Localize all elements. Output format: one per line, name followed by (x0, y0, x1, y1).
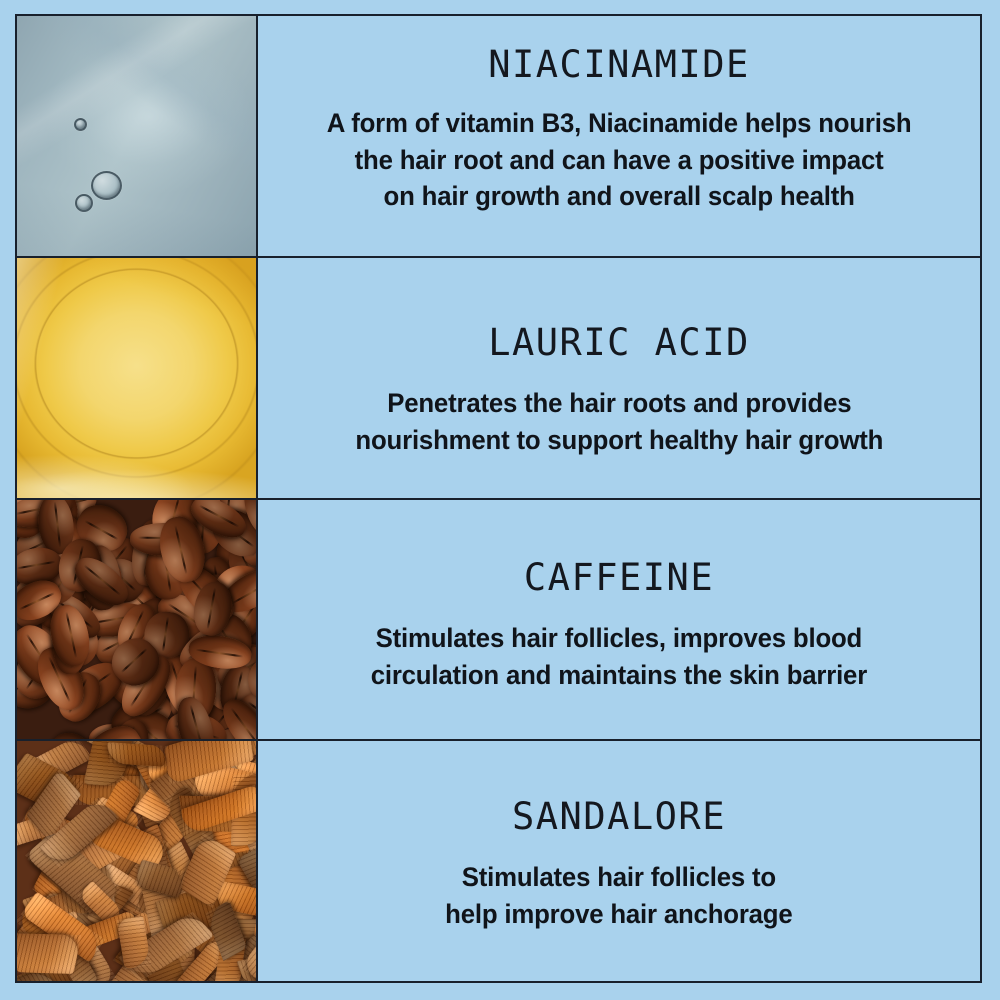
ingredient-description: A form of vitamin B3, Niacinamide helps … (327, 105, 912, 215)
description-line: the hair root and can have a positive im… (327, 142, 912, 179)
ingredient-title: LAURIC ACID (488, 322, 750, 365)
table-row: CAFFEINE Stimulates hair follicles, impr… (17, 500, 980, 742)
bubble-icon (91, 171, 122, 200)
ingredient-copy-lauric-acid: LAURIC ACID Penetrates the hair roots an… (258, 258, 980, 498)
sandalwood-chip (17, 933, 81, 974)
description-line: Penetrates the hair roots and provides (355, 385, 883, 422)
ingredient-image-niacinamide (17, 16, 258, 256)
description-line: Stimulates hair follicles to (445, 859, 792, 896)
ingredient-description: Stimulates hair follicles, improves bloo… (371, 620, 867, 693)
ingredient-image-lauric-acid (17, 258, 258, 498)
description-line: on hair growth and overall scalp health (327, 178, 912, 215)
ingredient-image-sandalore (17, 741, 258, 981)
bubble-icon (74, 118, 87, 131)
table-row: LAURIC ACID Penetrates the hair roots an… (17, 258, 980, 500)
description-line: help improve hair anchorage (445, 896, 792, 933)
ingredient-image-caffeine (17, 500, 258, 740)
bubble-icon (75, 194, 93, 212)
coffee-beans-image (17, 500, 256, 740)
sandalwood-chips-image (17, 741, 256, 981)
description-line: Stimulates hair follicles, improves bloo… (371, 620, 867, 657)
ingredient-description: Stimulates hair follicles to help improv… (445, 859, 792, 932)
ingredient-copy-sandalore: SANDALORE Stimulates hair follicles to h… (258, 741, 980, 981)
ingredient-description: Penetrates the hair roots and provides n… (355, 385, 883, 458)
ingredient-title: CAFFEINE (524, 557, 714, 600)
description-line: nourishment to support healthy hair grow… (355, 422, 883, 459)
ingredient-copy-caffeine: CAFFEINE Stimulates hair follicles, impr… (258, 500, 980, 740)
ingredient-copy-niacinamide: NIACINAMIDE A form of vitamin B3, Niacin… (258, 16, 980, 256)
coconut-oil-image (17, 258, 256, 498)
sandalwood-chip (107, 742, 167, 767)
ingredient-title: SANDALORE (512, 796, 726, 839)
table-row: NIACINAMIDE A form of vitamin B3, Niacin… (17, 16, 980, 258)
description-line: A form of vitamin B3, Niacinamide helps … (327, 105, 912, 142)
ingredient-benefits-table: NIACINAMIDE A form of vitamin B3, Niacin… (15, 14, 982, 983)
ingredient-title: NIACINAMIDE (488, 44, 750, 87)
table-row: SANDALORE Stimulates hair follicles to h… (17, 741, 980, 981)
serum-texture-image (17, 16, 256, 256)
description-line: circulation and maintains the skin barri… (371, 657, 867, 694)
